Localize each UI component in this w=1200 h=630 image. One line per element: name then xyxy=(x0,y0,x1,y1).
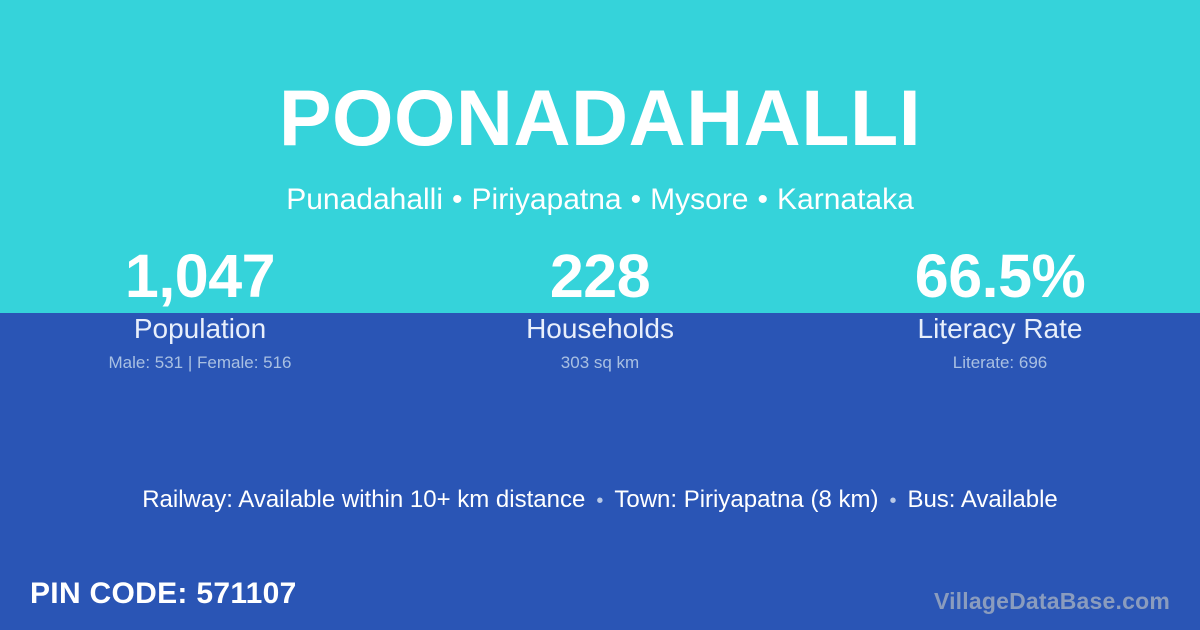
pin-code: PIN CODE: 571107 xyxy=(30,576,297,612)
separator-bullet: • xyxy=(622,183,651,216)
separator-bullet: • xyxy=(878,490,907,512)
stat-label: Population xyxy=(0,313,400,345)
breadcrumb-part: Karnataka xyxy=(777,183,914,216)
breadcrumb-part: Punadahalli xyxy=(286,183,443,216)
site-brand: VillageDataBase.com xyxy=(934,587,1170,615)
stat-label: Households xyxy=(400,313,800,345)
stat-households: 228 Households 303 sq km xyxy=(400,245,800,373)
stat-sublabel: Male: 531 | Female: 516 xyxy=(0,353,400,373)
page-title: POONADAHALLI xyxy=(0,0,1200,157)
amenity-item: Railway: Available within 10+ km distanc… xyxy=(142,486,585,513)
footer: PIN CODE: 571107 VillageDataBase.com xyxy=(0,572,1200,630)
separator-bullet: • xyxy=(443,183,472,216)
breadcrumb-part: Piriyapatna xyxy=(472,183,622,216)
stats-row: 1,047 Population Male: 531 | Female: 516… xyxy=(0,245,1200,373)
breadcrumb: Punadahalli•Piriyapatna•Mysore•Karnataka xyxy=(0,157,1200,217)
amenity-item: Bus: Available xyxy=(907,486,1057,513)
header: POONADAHALLI Punadahalli•Piriyapatna•Mys… xyxy=(0,0,1200,217)
stat-sublabel: Literate: 696 xyxy=(800,353,1200,373)
breadcrumb-part: Mysore xyxy=(650,183,748,216)
stat-value: 228 xyxy=(400,245,800,307)
stat-population: 1,047 Population Male: 531 | Female: 516 xyxy=(0,245,400,373)
amenity-item: Town: Piriyapatna (8 km) xyxy=(614,486,878,513)
stat-value: 1,047 xyxy=(0,245,400,307)
amenities-info-line: Railway: Available within 10+ km distanc… xyxy=(0,484,1200,517)
separator-bullet: • xyxy=(585,490,614,512)
village-info-card: POONADAHALLI Punadahalli•Piriyapatna•Mys… xyxy=(0,0,1200,630)
stat-label: Literacy Rate xyxy=(800,313,1200,345)
stat-literacy-rate: 66.5% Literacy Rate Literate: 696 xyxy=(800,245,1200,373)
stat-value: 66.5% xyxy=(800,245,1200,307)
separator-bullet: • xyxy=(749,183,778,216)
stat-sublabel: 303 sq km xyxy=(400,353,800,373)
